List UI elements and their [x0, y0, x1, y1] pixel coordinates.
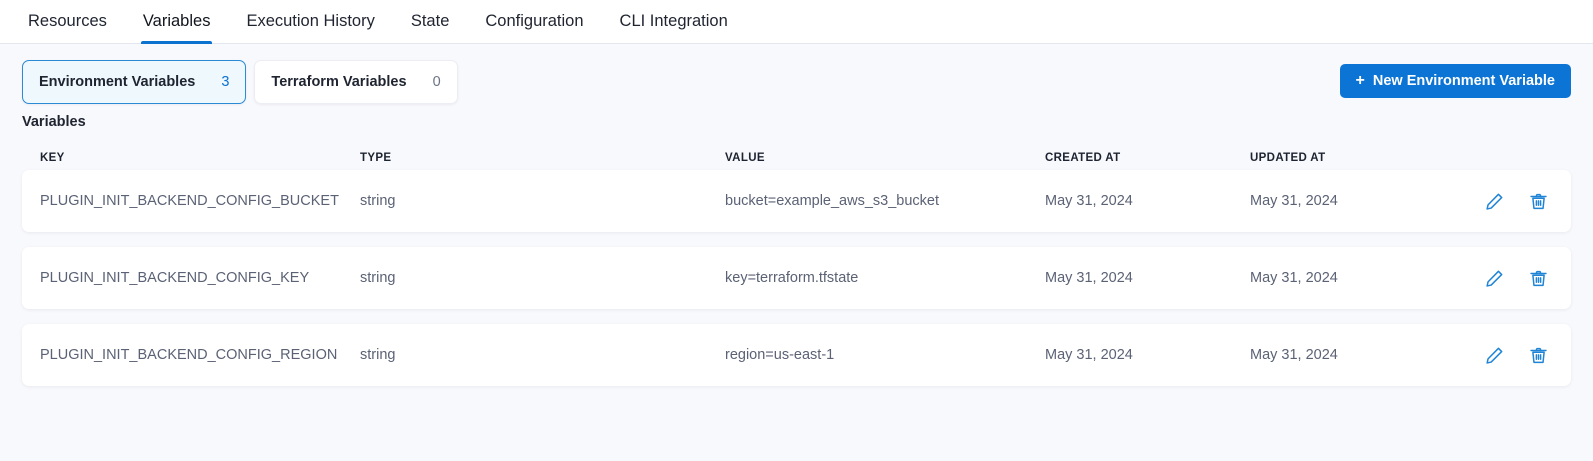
cell-updated-at: May 31, 2024: [1250, 193, 1438, 209]
new-environment-variable-label: New Environment Variable: [1373, 73, 1555, 89]
tab-label: CLI Integration: [620, 12, 728, 31]
table-row[interactable]: PLUGIN_INIT_BACKEND_CONFIG_BUCKET string…: [22, 170, 1571, 232]
primary-tab-bar: Resources Variables Execution History St…: [0, 0, 1593, 44]
tab-execution-history[interactable]: Execution History: [228, 0, 392, 44]
column-header-type: TYPE: [360, 152, 725, 164]
variable-type-count: 3: [221, 74, 229, 90]
tab-label: Configuration: [485, 12, 583, 31]
variables-table: KEY TYPE VALUE CREATED AT UPDATED AT PLU…: [22, 146, 1571, 386]
delete-variable-button[interactable]: [1527, 190, 1549, 212]
row-actions: [1438, 190, 1553, 212]
tab-configuration[interactable]: Configuration: [467, 0, 601, 44]
cell-updated-at: May 31, 2024: [1250, 270, 1438, 286]
delete-trash-icon: [1528, 345, 1549, 366]
plus-icon: +: [1356, 73, 1365, 89]
variable-type-card-terraform[interactable]: Terraform Variables 0: [254, 60, 457, 104]
cell-key: PLUGIN_INIT_BACKEND_CONFIG_BUCKET: [40, 193, 360, 209]
tab-label: Variables: [143, 12, 211, 31]
table-row[interactable]: PLUGIN_INIT_BACKEND_CONFIG_REGION string…: [22, 324, 1571, 386]
variable-type-label: Environment Variables: [39, 74, 195, 90]
column-header-created-at: CREATED AT: [1045, 152, 1250, 164]
tab-variables[interactable]: Variables: [125, 0, 229, 44]
cell-updated-at: May 31, 2024: [1250, 347, 1438, 363]
tab-label: State: [411, 12, 450, 31]
row-actions: [1438, 267, 1553, 289]
cell-key: PLUGIN_INIT_BACKEND_CONFIG_REGION: [40, 347, 360, 363]
table-header-row: KEY TYPE VALUE CREATED AT UPDATED AT: [22, 146, 1571, 170]
tab-state[interactable]: State: [393, 0, 468, 44]
edit-variable-button[interactable]: [1483, 267, 1505, 289]
cell-type: string: [360, 193, 725, 209]
column-header-updated-at: UPDATED AT: [1250, 152, 1438, 164]
variable-type-selector: Environment Variables 3 Terraform Variab…: [22, 60, 458, 104]
edit-pencil-icon: [1484, 191, 1505, 212]
new-environment-variable-button[interactable]: + New Environment Variable: [1340, 64, 1571, 98]
page-title: Variables: [22, 114, 1571, 130]
delete-trash-icon: [1528, 191, 1549, 212]
tab-resources[interactable]: Resources: [22, 0, 125, 44]
edit-variable-button[interactable]: [1483, 344, 1505, 366]
column-header-value: VALUE: [725, 152, 1045, 164]
cell-created-at: May 31, 2024: [1045, 193, 1250, 209]
edit-variable-button[interactable]: [1483, 190, 1505, 212]
edit-pencil-icon: [1484, 268, 1505, 289]
tab-label: Execution History: [246, 12, 374, 31]
delete-variable-button[interactable]: [1527, 267, 1549, 289]
row-actions: [1438, 344, 1553, 366]
cell-value: bucket=example_aws_s3_bucket: [725, 193, 1045, 209]
edit-pencil-icon: [1484, 345, 1505, 366]
delete-trash-icon: [1528, 268, 1549, 289]
cell-created-at: May 31, 2024: [1045, 347, 1250, 363]
column-header-key: KEY: [40, 152, 360, 164]
cell-value: region=us-east-1: [725, 347, 1045, 363]
cell-type: string: [360, 347, 725, 363]
cell-value: key=terraform.tfstate: [725, 270, 1045, 286]
tab-cli-integration[interactable]: CLI Integration: [602, 0, 746, 44]
variable-type-card-environment[interactable]: Environment Variables 3: [22, 60, 246, 104]
cell-key: PLUGIN_INIT_BACKEND_CONFIG_KEY: [40, 270, 360, 286]
cell-type: string: [360, 270, 725, 286]
cell-created-at: May 31, 2024: [1045, 270, 1250, 286]
variables-toolbar: Environment Variables 3 Terraform Variab…: [22, 44, 1571, 104]
delete-variable-button[interactable]: [1527, 344, 1549, 366]
variable-type-count: 0: [433, 74, 441, 90]
variable-type-label: Terraform Variables: [271, 74, 406, 90]
table-row[interactable]: PLUGIN_INIT_BACKEND_CONFIG_KEY string ke…: [22, 247, 1571, 309]
variables-page: Environment Variables 3 Terraform Variab…: [0, 44, 1593, 386]
tab-label: Resources: [28, 12, 107, 31]
